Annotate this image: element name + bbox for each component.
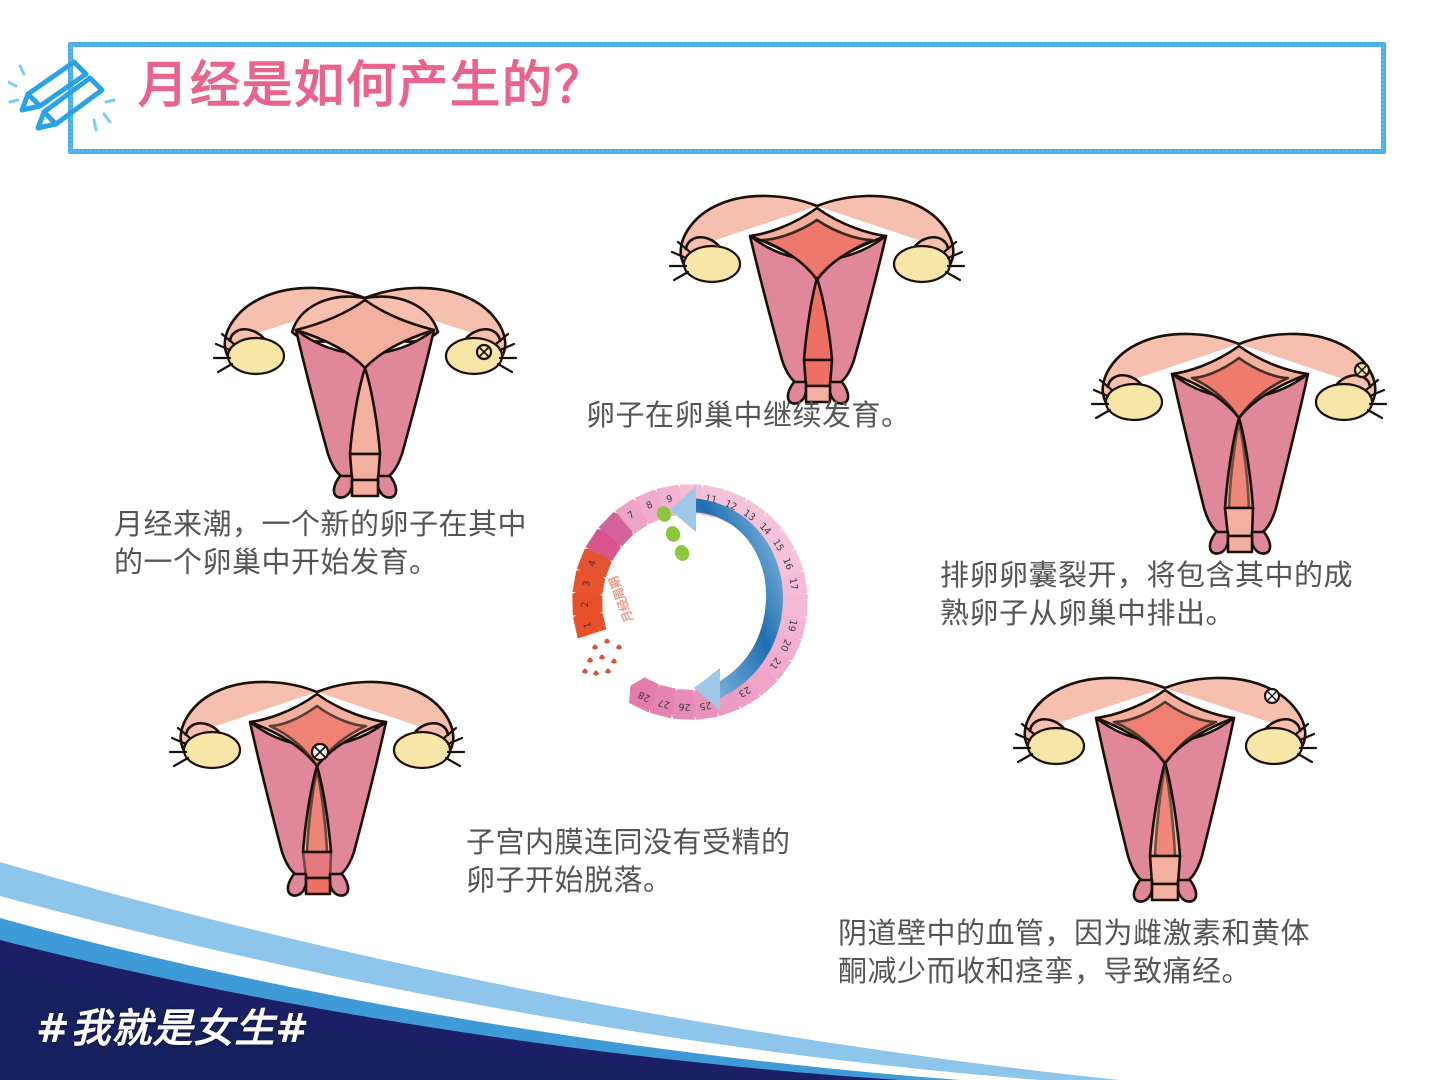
menstrual-phase-label: 月经周期 — [606, 574, 637, 625]
uterus-diagram-3 — [1080, 318, 1398, 558]
caption-menstruation: 月经来潮，一个新的卵子在其中的一个卵巢中开始发育。 — [114, 505, 554, 582]
page-title: 月经是如何产生的？ — [138, 60, 606, 110]
menstrual-cycle-chart: 1234789111213141516171920212325262728 受精… — [570, 452, 810, 762]
watermark-text: #我就是女生# — [36, 996, 310, 1054]
fertile-phase-label: 受精期 — [733, 559, 747, 606]
cycle-wheel-svg: 1234789111213141516171920212325262728 受精… — [570, 452, 810, 762]
cycle-day-label-2: 2 — [580, 601, 591, 607]
blood-drops-icon — [582, 639, 622, 676]
cycle-day-label-26: 26 — [678, 701, 691, 713]
uterus-diagram-1 — [200, 268, 530, 500]
slide-canvas: 月经是如何产生的？ — [0, 0, 1440, 1080]
caption-ovulation: 排卵卵囊裂开，将包含其中的成熟卵子从卵巢中排出。 — [940, 556, 1360, 633]
cycle-day-label-17: 17 — [786, 577, 799, 591]
pencil-sparkle-icon — [8, 40, 158, 160]
uterus-diagram-2 — [658, 178, 976, 406]
caption-follicle-growth: 卵子在卵巢中继续发育。 — [586, 396, 986, 434]
